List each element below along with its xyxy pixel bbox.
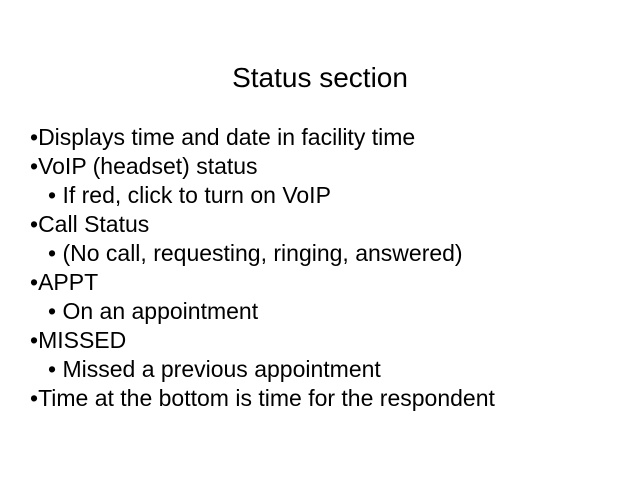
list-item: •Time at the bottom is time for the resp… [24,384,624,413]
sub-list-item-label: If red, click to turn on VoIP [62,182,330,208]
list-item-label: Call Status [38,211,149,237]
list-item-label: MISSED [38,327,126,353]
sub-list-item-label: On an appointment [62,298,258,324]
list-item: •VoIP (headset) status [24,152,624,181]
bullet-glyph-icon: • [48,240,62,266]
bullet-glyph-icon: • [30,269,38,295]
list-item: •MISSED [24,326,624,355]
bullet-glyph-icon: • [30,153,38,179]
sub-list-item: •Missed a previous appointment [24,355,624,384]
bullet-glyph-icon: • [30,124,38,150]
bullet-glyph-icon: • [30,211,38,237]
bullet-glyph-icon: • [30,327,38,353]
list-item: •Displays time and date in facility time [24,123,624,152]
bullet-glyph-icon: • [48,182,62,208]
list-item: •APPT [24,268,624,297]
slide-canvas: Status section •Displays time and date i… [0,0,640,480]
list-item-label: VoIP (headset) status [38,153,258,179]
bullet-list: •Displays time and date in facility time… [24,123,624,413]
bullet-glyph-icon: • [48,298,62,324]
list-item: •Call Status [24,210,624,239]
list-item-label: Displays time and date in facility time [38,124,415,150]
list-item-label: APPT [38,269,98,295]
list-item-label: Time at the bottom is time for the respo… [38,385,495,411]
sub-list-item: •(No call, requesting, ringing, answered… [24,239,624,268]
bullet-glyph-icon: • [48,356,62,382]
page-title: Status section [0,61,640,95]
bullet-glyph-icon: • [30,385,38,411]
sub-list-item-label: (No call, requesting, ringing, answered) [62,240,462,266]
sub-list-item-label: Missed a previous appointment [62,356,380,382]
sub-list-item: •If red, click to turn on VoIP [24,181,624,210]
sub-list-item: •On an appointment [24,297,624,326]
